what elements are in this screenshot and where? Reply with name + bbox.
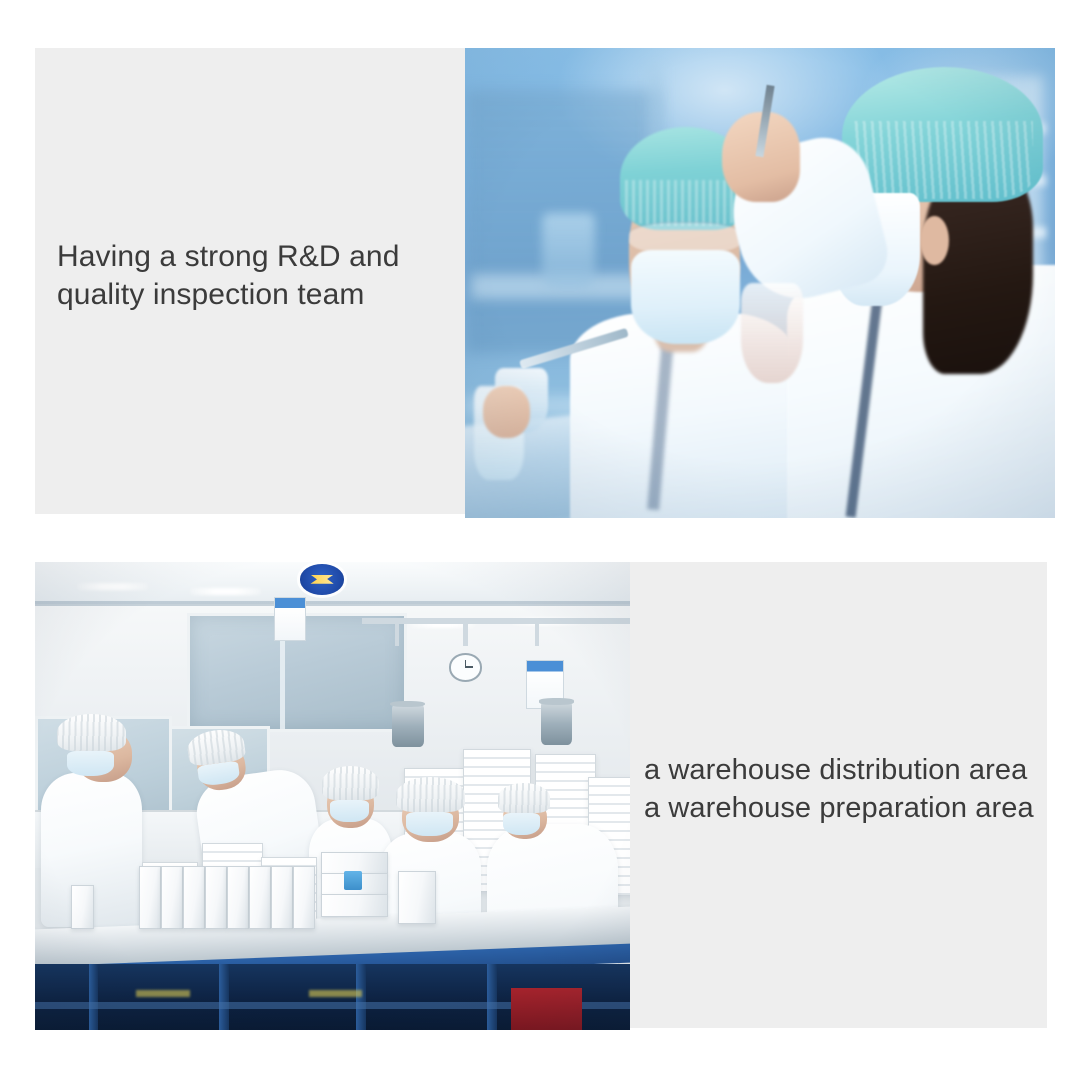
warehouse-vignette: [35, 562, 630, 1030]
warehouse-scene: [35, 562, 630, 1030]
rnd-caption-text: Having a strong R&D and quality inspecti…: [57, 238, 457, 315]
warehouse-caption-panel: a warehouse distribution area a warehous…: [630, 562, 1047, 1028]
warehouse-caption-text: a warehouse distribution area a warehous…: [644, 752, 1049, 827]
lab-vignette: [465, 48, 1055, 518]
rnd-caption-panel: Having a strong R&D and quality inspecti…: [35, 48, 467, 514]
lab-quality-inspection-photo: [465, 48, 1055, 518]
warehouse-packing-photo: [35, 562, 630, 1030]
lab-scene: [465, 48, 1055, 518]
page-root: Having a strong R&D and quality inspecti…: [0, 0, 1080, 1080]
